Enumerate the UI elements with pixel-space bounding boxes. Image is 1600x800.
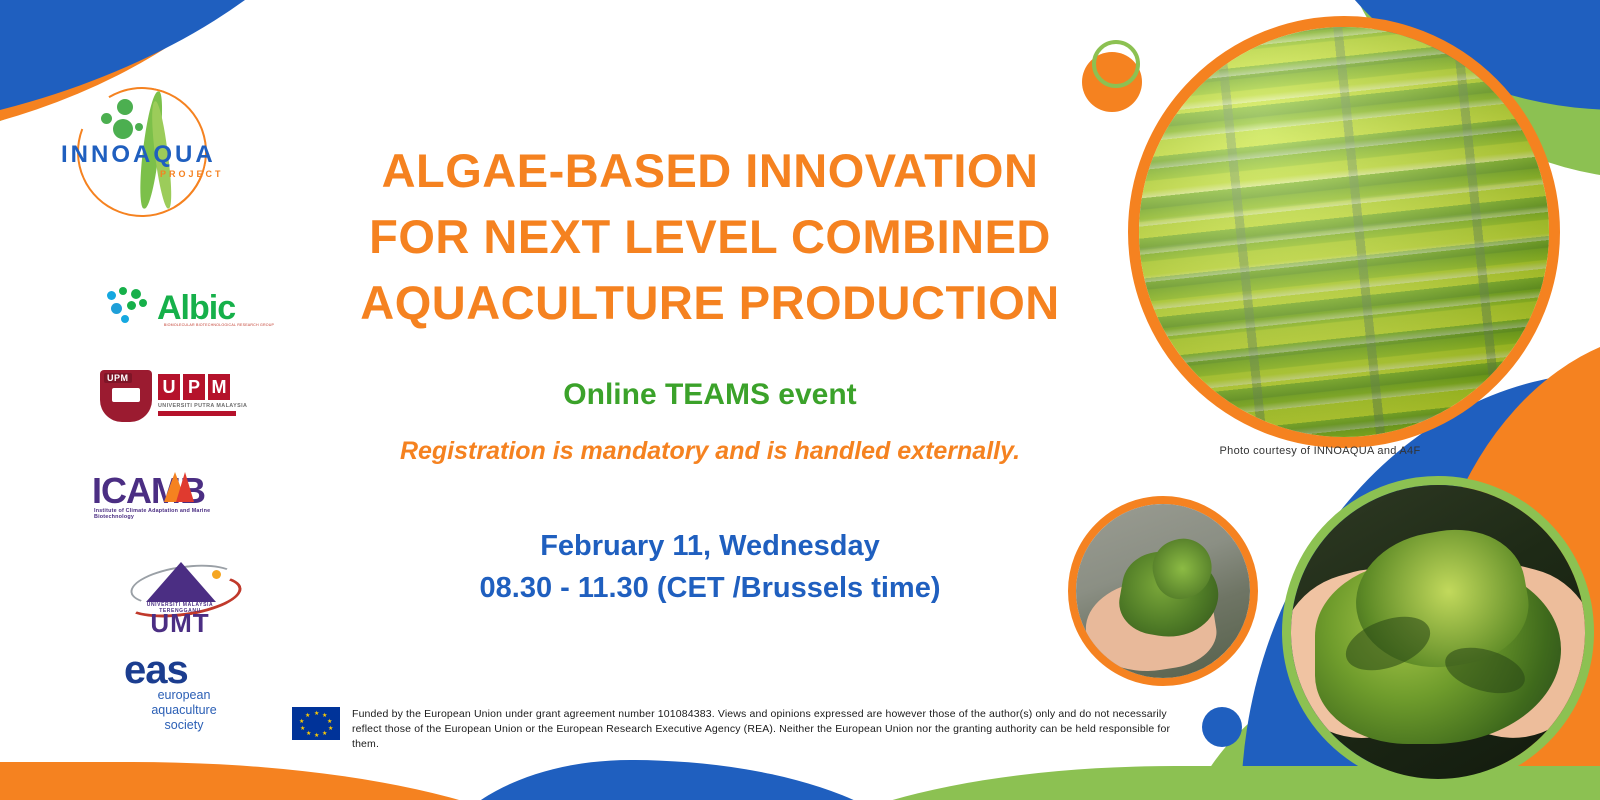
eas-wordmark: eas — [124, 648, 188, 693]
albic-dot-icon — [131, 289, 141, 299]
event-datetime: February 11, Wednesday 08.30 - 11.30 (CE… — [330, 525, 1090, 609]
accent-circle-orange — [1082, 52, 1142, 112]
photo-photobioreactor — [1128, 16, 1560, 448]
albic-dot-icon — [111, 303, 122, 314]
albic-subtitle: BIOMOLECULAR BIOTECHNOLOGICAL RESEARCH G… — [159, 323, 279, 328]
bubble-icon — [101, 113, 112, 124]
albic-dot-icon — [127, 301, 136, 310]
event-time: 08.30 - 11.30 (CET /Brussels time) — [330, 567, 1090, 609]
headline-line-1: ALGAE-BASED INNOVATION — [330, 138, 1090, 204]
albic-dot-icon — [107, 291, 116, 300]
eas-subtitle: european aquaculture society — [132, 688, 236, 733]
upm-crest-label: UPM — [104, 373, 132, 383]
event-format-label: Online TEAMS event — [330, 378, 1090, 412]
logo-albic: Albic BIOMOLECULAR BIOTECHNOLOGICAL RESE… — [105, 285, 285, 337]
logo-eas: eas european aquaculture society — [118, 648, 248, 728]
event-date: February 11, Wednesday — [330, 525, 1090, 567]
bubble-icon — [135, 123, 143, 131]
eas-subtitle-line1: european — [132, 688, 236, 703]
accent-ring-green — [1092, 40, 1140, 88]
bubble-icon — [113, 119, 133, 139]
photo-seaweed-hand — [1068, 496, 1258, 686]
eas-subtitle-line2: aquaculture — [132, 703, 236, 718]
bottom-wave-blue — [430, 760, 930, 800]
funding-text: Funded by the European Union under grant… — [352, 707, 1172, 752]
photo-seaweed-hands — [1282, 476, 1594, 788]
albic-dot-icon — [121, 315, 129, 323]
icamb-subtitle: Institute of Climate Adaptation and Mari… — [94, 508, 252, 520]
headline-line-3: AQUACULTURE PRODUCTION — [330, 270, 1090, 336]
page-title: ALGAE-BASED INNOVATION FOR NEXT LEVEL CO… — [330, 138, 1090, 336]
bubble-icon — [117, 99, 133, 115]
innoaqua-subtitle: PROJECT — [160, 169, 224, 179]
logo-icamb: ICAMB Institute of Climate Adaptation an… — [92, 470, 252, 522]
photo-credit: Photo courtesy of INNOAQUA and A4F — [1110, 445, 1530, 457]
logo-innoaqua: INNOAQUA PROJECT — [55, 85, 265, 215]
innoaqua-wordmark: INNOAQUA — [61, 141, 216, 169]
eu-flag-icon: ★ ★ ★ ★ ★ ★ ★ ★ ★ ★ — [292, 707, 340, 740]
upm-crest-icon: UPM — [100, 370, 152, 422]
umt-wordmark: UMT — [120, 608, 240, 639]
upm-letter-blocks: U P M — [158, 374, 230, 400]
upm-subtitle: UNIVERSITI PUTRA MALAYSIA — [158, 403, 247, 409]
upm-letter-u: U — [158, 374, 180, 400]
headline-line-2: FOR NEXT LEVEL COMBINED — [330, 204, 1090, 270]
event-banner: INNOAQUA PROJECT Albic BIOMOLECULAR BIOT… — [0, 0, 1600, 800]
icamb-chevron-red-icon — [176, 472, 194, 502]
registration-note: Registration is mandatory and is handled… — [300, 437, 1120, 466]
albic-dot-icon — [139, 299, 147, 307]
upm-book-icon — [112, 388, 140, 402]
eas-subtitle-line3: society — [132, 718, 236, 733]
upm-accent-bar — [158, 411, 236, 416]
upm-letter-m: M — [208, 374, 230, 400]
upm-letter-p: P — [183, 374, 205, 400]
logo-upm: UPM U P M UNIVERSITI PUTRA MALAYSIA — [100, 368, 260, 424]
eu-funding-statement: ★ ★ ★ ★ ★ ★ ★ ★ ★ ★ Funded by the Europe… — [292, 707, 1172, 752]
albic-dot-icon — [119, 287, 127, 295]
accent-circle-blue — [1202, 707, 1242, 747]
umt-orb-icon — [212, 570, 221, 579]
logo-umt: UNIVERSITI MALAYSIA TERENGGANU UMT — [120, 552, 240, 624]
bottom-wave-orange — [0, 762, 580, 800]
